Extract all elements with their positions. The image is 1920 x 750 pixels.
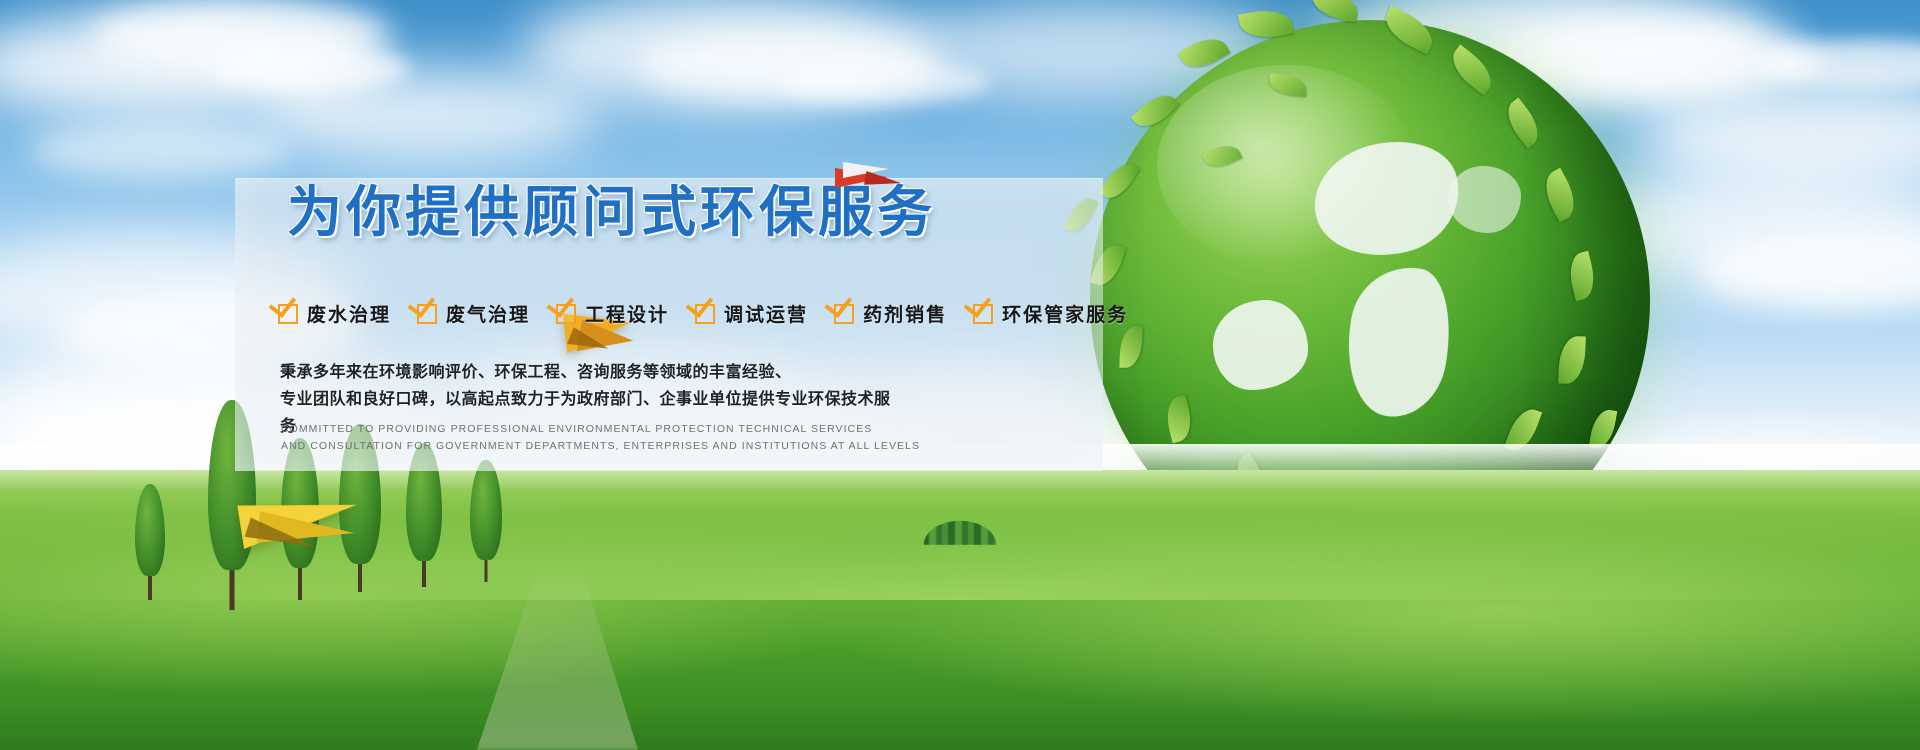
english-subtitle: COMMITTED TO PROVIDING PROFESSIONAL ENVI… [281,421,920,455]
feature-label: 调试运营 [724,300,808,327]
paper-plane-yellow-large-icon [240,478,400,558]
checkbox-checked-icon [556,304,576,324]
checkbox-checked-icon [973,304,993,324]
feature-label: 废气治理 [446,300,530,327]
feature-label: 药剂销售 [863,300,947,327]
feature-label: 环保管家服务 [1002,300,1128,327]
feature-item-chemical-sales[interactable]: 药剂销售 [834,300,947,327]
feature-label: 废水治理 [307,300,391,327]
environmental-service-banner: 为你提供顾问式环保服务 废水治理 废气治理 工程设计 调试运营 药剂销售 环保管… [0,0,1920,750]
feature-list: 废水治理 废气治理 工程设计 调试运营 药剂销售 环保管家服务 [278,300,1128,327]
checkbox-checked-icon [695,304,715,324]
checkbox-checked-icon [278,304,298,324]
feature-item-steward-service[interactable]: 环保管家服务 [973,300,1128,327]
feature-item-waste-gas[interactable]: 废气治理 [417,300,530,327]
feature-label: 工程设计 [585,300,669,327]
checkbox-checked-icon [834,304,854,324]
checkbox-checked-icon [417,304,437,324]
paper-plane-red-icon [835,160,905,196]
english-line-1: COMMITTED TO PROVIDING PROFESSIONAL ENVI… [281,421,920,438]
english-line-2: AND CONSULTATION FOR GOVERNMENT DEPARTME… [281,438,920,455]
feature-item-wastewater[interactable]: 废水治理 [278,300,391,327]
feature-item-commissioning[interactable]: 调试运营 [695,300,808,327]
description-line-1: 秉承多年来在环境影响评价、环保工程、咨询服务等领域的丰富经验、 [280,358,900,385]
feature-item-engineering-design[interactable]: 工程设计 [556,300,669,327]
